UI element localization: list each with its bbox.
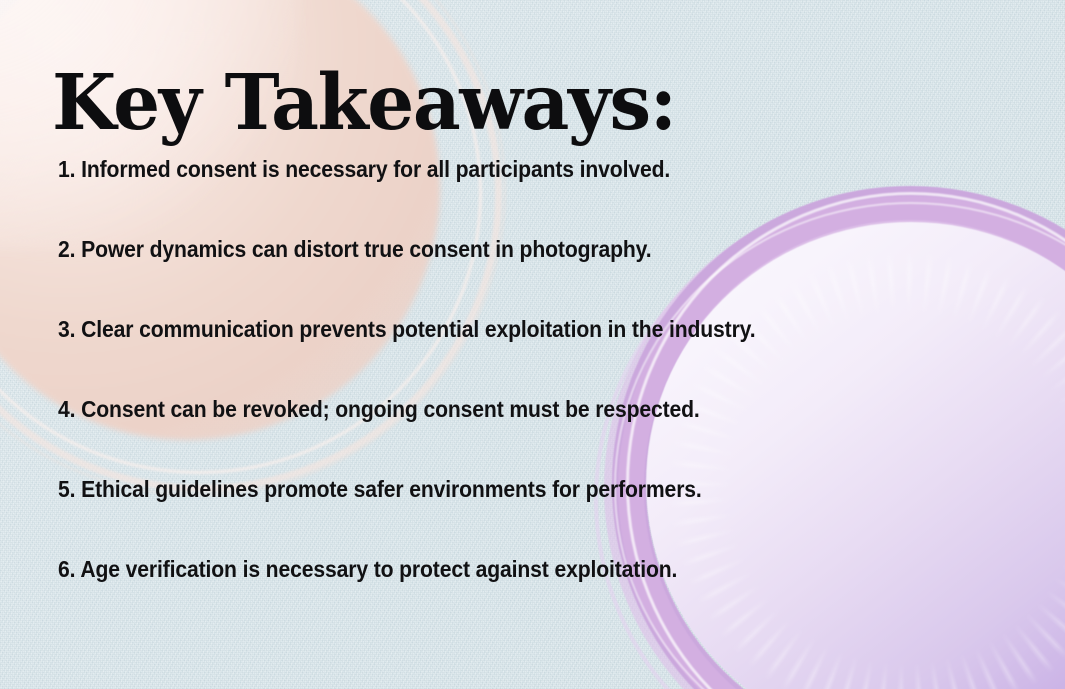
list-item: 2. Power dynamics can distort true conse… xyxy=(58,232,895,312)
list-item: 3. Clear communication prevents potentia… xyxy=(58,312,895,392)
list-item: 4. Consent can be revoked; ongoing conse… xyxy=(58,392,895,472)
list-item: 1. Informed consent is necessary for all… xyxy=(58,152,895,232)
takeaway-list: 1. Informed consent is necessary for all… xyxy=(58,152,988,632)
slide-canvas: Key Takeaways: 1. Informed consent is ne… xyxy=(0,0,1065,689)
page-title: Key Takeaways: xyxy=(52,65,676,142)
list-item: 5. Ethical guidelines promote safer envi… xyxy=(58,472,895,552)
slide-content: Key Takeaways: 1. Informed consent is ne… xyxy=(0,0,1065,689)
list-item: 6. Age verification is necessary to prot… xyxy=(58,552,895,632)
